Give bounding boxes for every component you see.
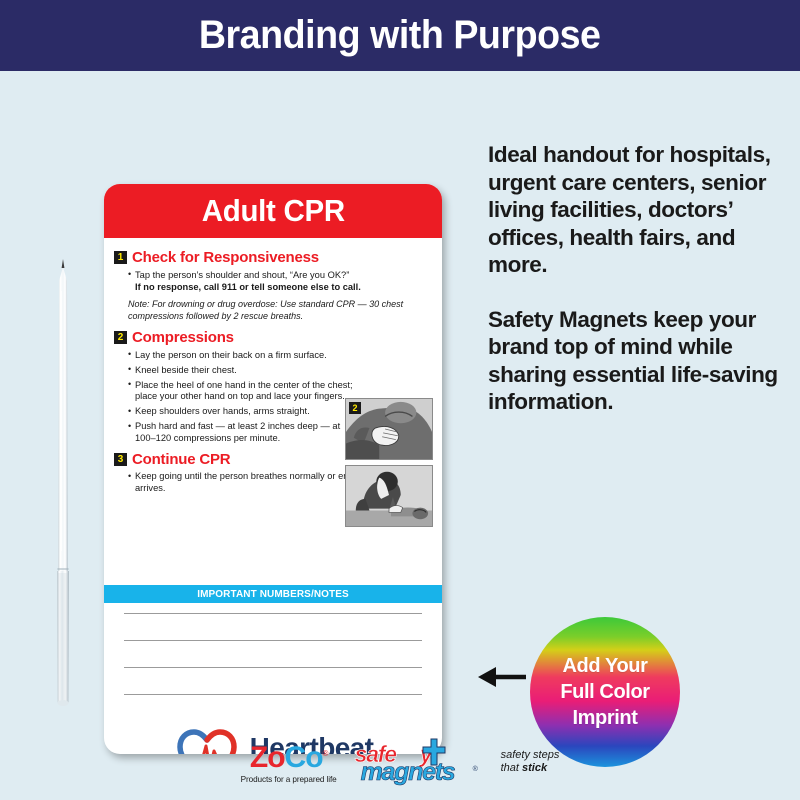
- zoco-registered-mark: ®: [323, 749, 328, 758]
- footer-logos: ZoCo® Products for a prepared life safey…: [0, 723, 800, 800]
- badge-line-1: Add Your: [563, 655, 648, 678]
- note-line[interactable]: [124, 667, 422, 668]
- page-title: Branding with Purpose: [199, 13, 601, 58]
- arrow-left-icon: [476, 665, 528, 689]
- copy-paragraph-2: Safety Magnets keep your brand top of mi…: [488, 306, 788, 416]
- tagline-line-2: that stick: [501, 762, 560, 775]
- pen-icon: [52, 251, 74, 741]
- pointer-arrow: [476, 665, 528, 689]
- safety-magnets-registered-mark: ®: [473, 766, 478, 773]
- illustration-group: 2: [345, 398, 433, 532]
- copy-paragraph-1: Ideal handout for hospitals, urgent care…: [488, 141, 788, 279]
- tagline-bold: stick: [522, 762, 547, 774]
- safety-magnets-logo: safey magnets ®: [355, 738, 483, 786]
- rescuer-kneeling-icon: [346, 466, 432, 526]
- step-1-heading: 1 Check for Responsiveness: [114, 249, 432, 266]
- zoco-letter-z: Z: [250, 741, 267, 774]
- card-title: Adult CPR: [201, 193, 344, 229]
- card-header: Adult CPR: [104, 184, 442, 238]
- note-line[interactable]: [124, 613, 422, 614]
- bullet: Lay the person on their back on a firm s…: [128, 350, 353, 362]
- zoco-letter-o2: o: [305, 741, 322, 774]
- tagline-line-1: safety steps: [501, 749, 560, 762]
- page-banner: Branding with Purpose: [0, 0, 800, 71]
- bullet: Kneel beside their chest.: [128, 365, 353, 377]
- pen-illustration: [52, 251, 74, 741]
- step-1-title: Check for Responsiveness: [132, 249, 319, 266]
- zoco-wordmark: ZoCo®: [241, 739, 337, 773]
- zoco-tagline: Products for a prepared life: [241, 775, 337, 784]
- step-1-emphasis: If no response, call 911 or tell someone…: [128, 282, 432, 294]
- zoco-logo: ZoCo® Products for a prepared life: [241, 739, 337, 784]
- zoco-letter-c: C: [285, 741, 306, 774]
- bullet: Keep shoulders over hands, arms straight…: [128, 406, 353, 418]
- step-2-bullets: Lay the person on their back on a firm s…: [128, 350, 353, 445]
- step-3-number: 3: [114, 453, 127, 466]
- note-line[interactable]: [124, 640, 422, 641]
- tagline-plain: that: [501, 762, 522, 774]
- illustration-panel-rescuer-kneeling: [345, 465, 433, 527]
- bullet: Tap the person’s shoulder and shout, “Ar…: [128, 270, 432, 282]
- bullet: Place the heel of one hand in the center…: [128, 380, 353, 403]
- step-1-bullets: Tap the person’s shoulder and shout, “Ar…: [128, 270, 432, 294]
- page-stage: Adult CPR 1 Check for Responsiveness Tap…: [0, 71, 800, 800]
- illustration-panel-hands-on-chest: 2: [345, 398, 433, 460]
- important-numbers-bar: IMPORTANT NUMBERS/NOTES: [104, 585, 442, 603]
- zoco-letter-o1: o: [267, 741, 284, 774]
- cpr-magnet-card: Adult CPR 1 Check for Responsiveness Tap…: [104, 184, 442, 754]
- bullet: Push hard and fast — at least 2 inches d…: [128, 421, 353, 444]
- illustration-panel-number: 2: [349, 402, 361, 414]
- step-1-number: 1: [114, 251, 127, 264]
- badge-line-2: Full Color: [560, 681, 649, 704]
- marketing-copy: Ideal handout for hospitals, urgent care…: [488, 141, 788, 416]
- step-1-note: Note: For drowning or drug overdose: Use…: [128, 299, 432, 322]
- step-3-title: Continue CPR: [132, 451, 230, 468]
- step-2-heading: 2 Compressions: [114, 329, 432, 346]
- step-2-number: 2: [114, 331, 127, 344]
- notes-ruled-lines[interactable]: [124, 613, 422, 721]
- important-numbers-label: IMPORTANT NUMBERS/NOTES: [197, 589, 349, 600]
- card-body: 1 Check for Responsiveness Tap the perso…: [104, 238, 442, 494]
- safety-magnets-tagline: safety steps that stick: [501, 749, 560, 775]
- note-line[interactable]: [124, 694, 422, 695]
- medical-cross-icon: [421, 738, 447, 766]
- step-2-title: Compressions: [132, 329, 234, 346]
